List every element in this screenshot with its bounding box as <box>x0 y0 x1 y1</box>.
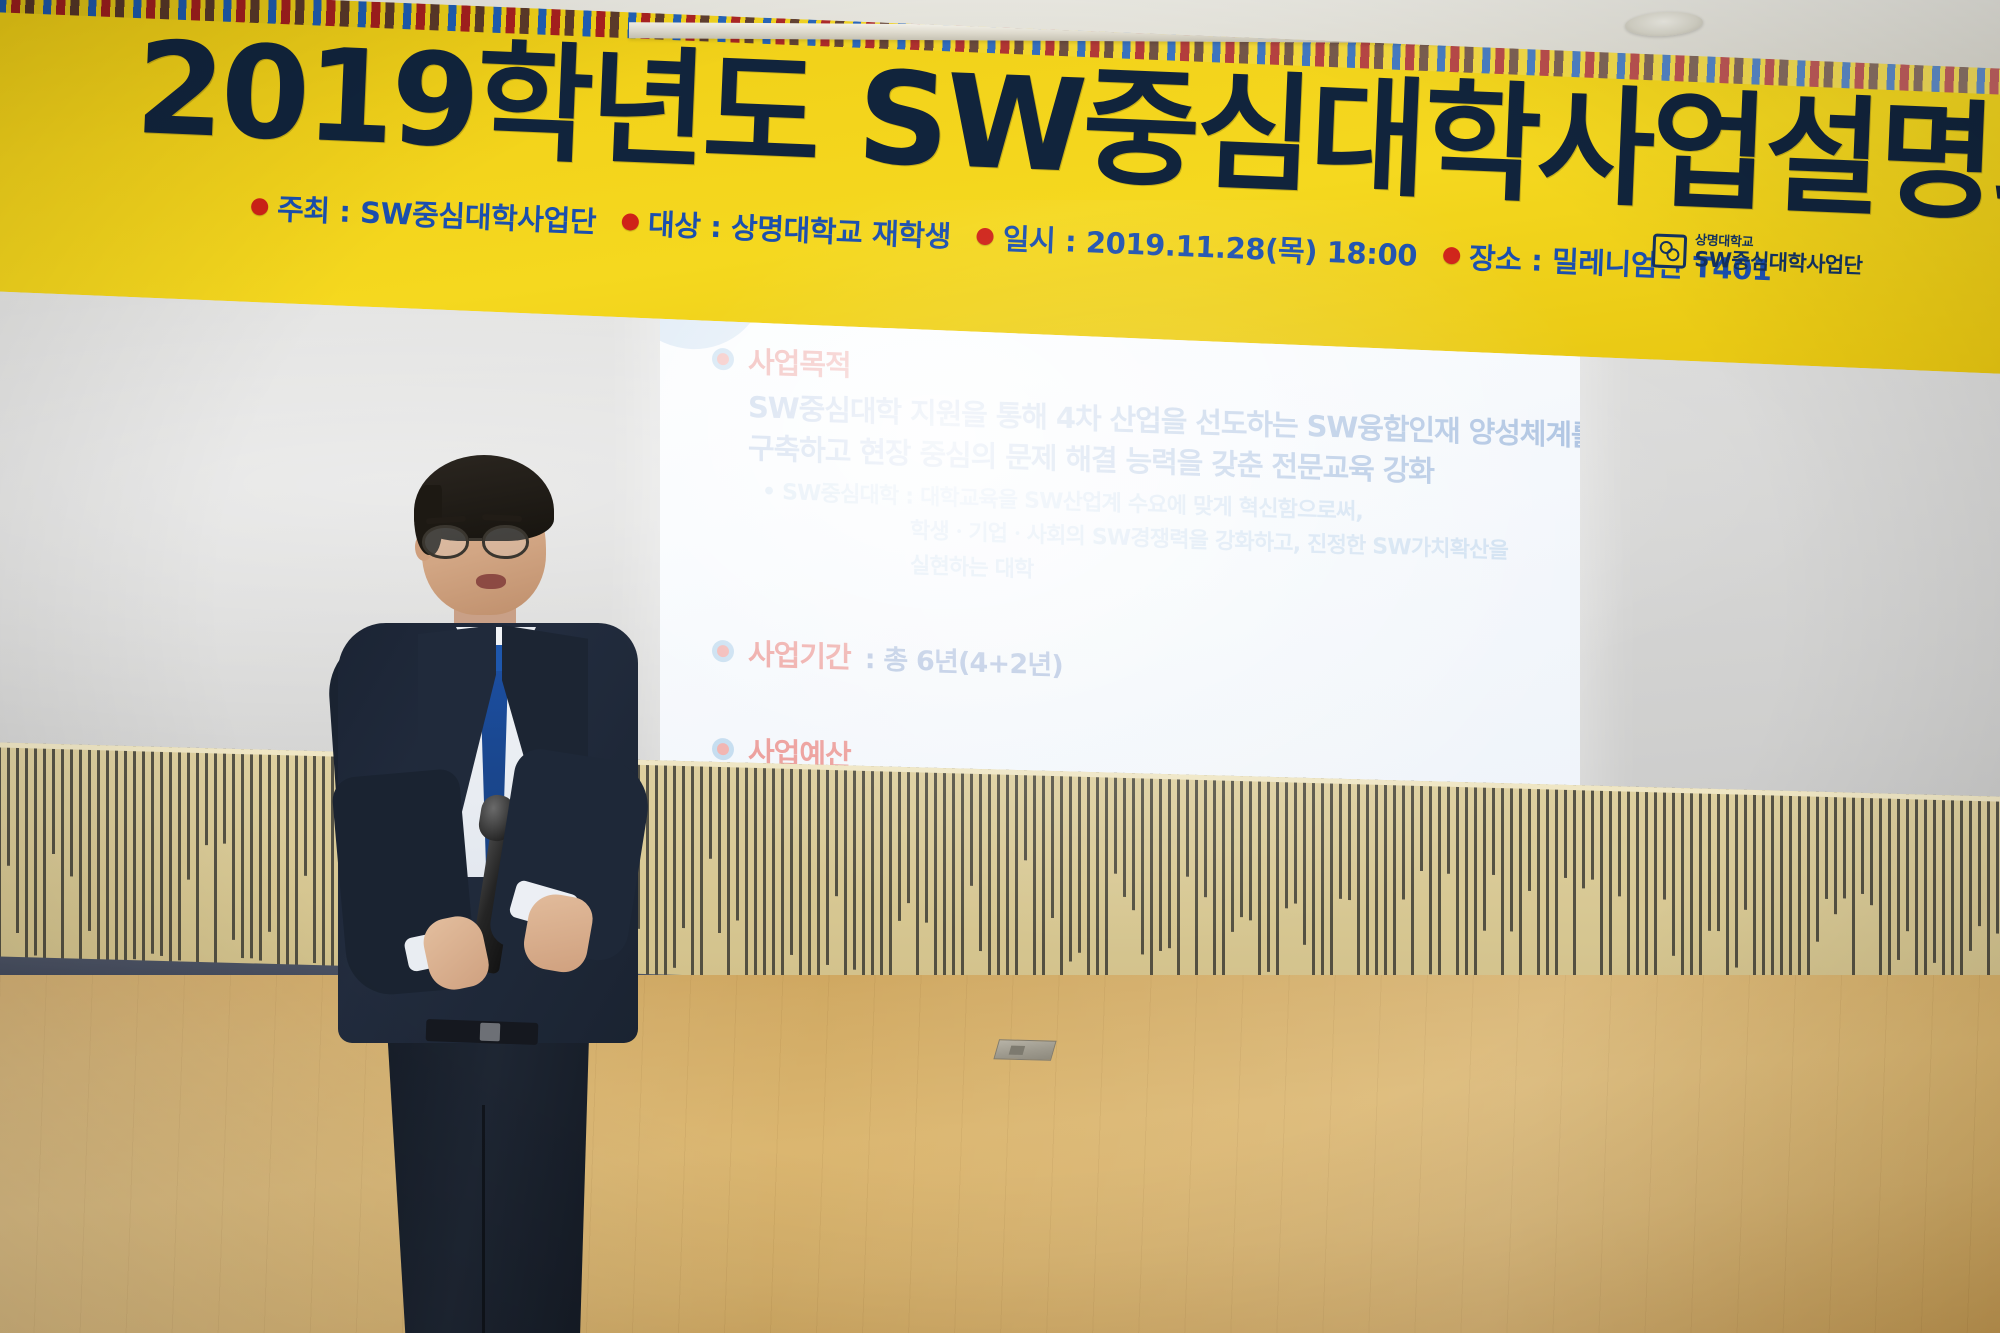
section-label: 사업목적 <box>748 339 851 384</box>
section-label: 사업기간 <box>748 631 851 676</box>
bullet-icon <box>712 348 734 371</box>
bullet-icon <box>712 640 734 663</box>
bullet-dot-icon <box>251 197 269 215</box>
glasses-icon <box>420 525 548 559</box>
logo-mark-icon <box>1652 233 1687 268</box>
presenter-belt-buckle <box>480 1023 501 1042</box>
bullet-dot-icon <box>977 227 995 245</box>
presenter-legs <box>374 1035 598 1333</box>
glasses-bridge <box>469 538 482 541</box>
slide-section-period: 사업기간 : 총 6년(4+2년) <box>712 630 1063 684</box>
bullet-dot-icon <box>622 213 640 231</box>
glasses-lens-right <box>482 525 529 559</box>
bullet-dot-icon <box>1443 246 1461 264</box>
section-heading: 사업기간 : 총 6년(4+2년) <box>712 630 1063 684</box>
presenter-leg-seam <box>482 1105 485 1333</box>
floor-outlet-plate <box>993 1039 1056 1061</box>
presenter <box>330 455 660 1333</box>
slide-section-purpose: 사업목적 SW중심대학 지원을 통해 4차 산업을 선도하는 SW융합인재 양성… <box>712 338 1580 607</box>
section-inline-value: : 총 6년(4+2년) <box>865 636 1063 682</box>
photo-scene: 66 사업개요 사업목적 SW중심대학 지원을 통해 4차 산업을 선도하는 S… <box>0 0 2000 1333</box>
floor <box>0 975 2000 1333</box>
glasses-lens-left <box>422 525 469 559</box>
presenter-mouth <box>476 574 506 589</box>
logo-text: 상명대학교 SW중심대학사업단 <box>1694 234 1863 277</box>
